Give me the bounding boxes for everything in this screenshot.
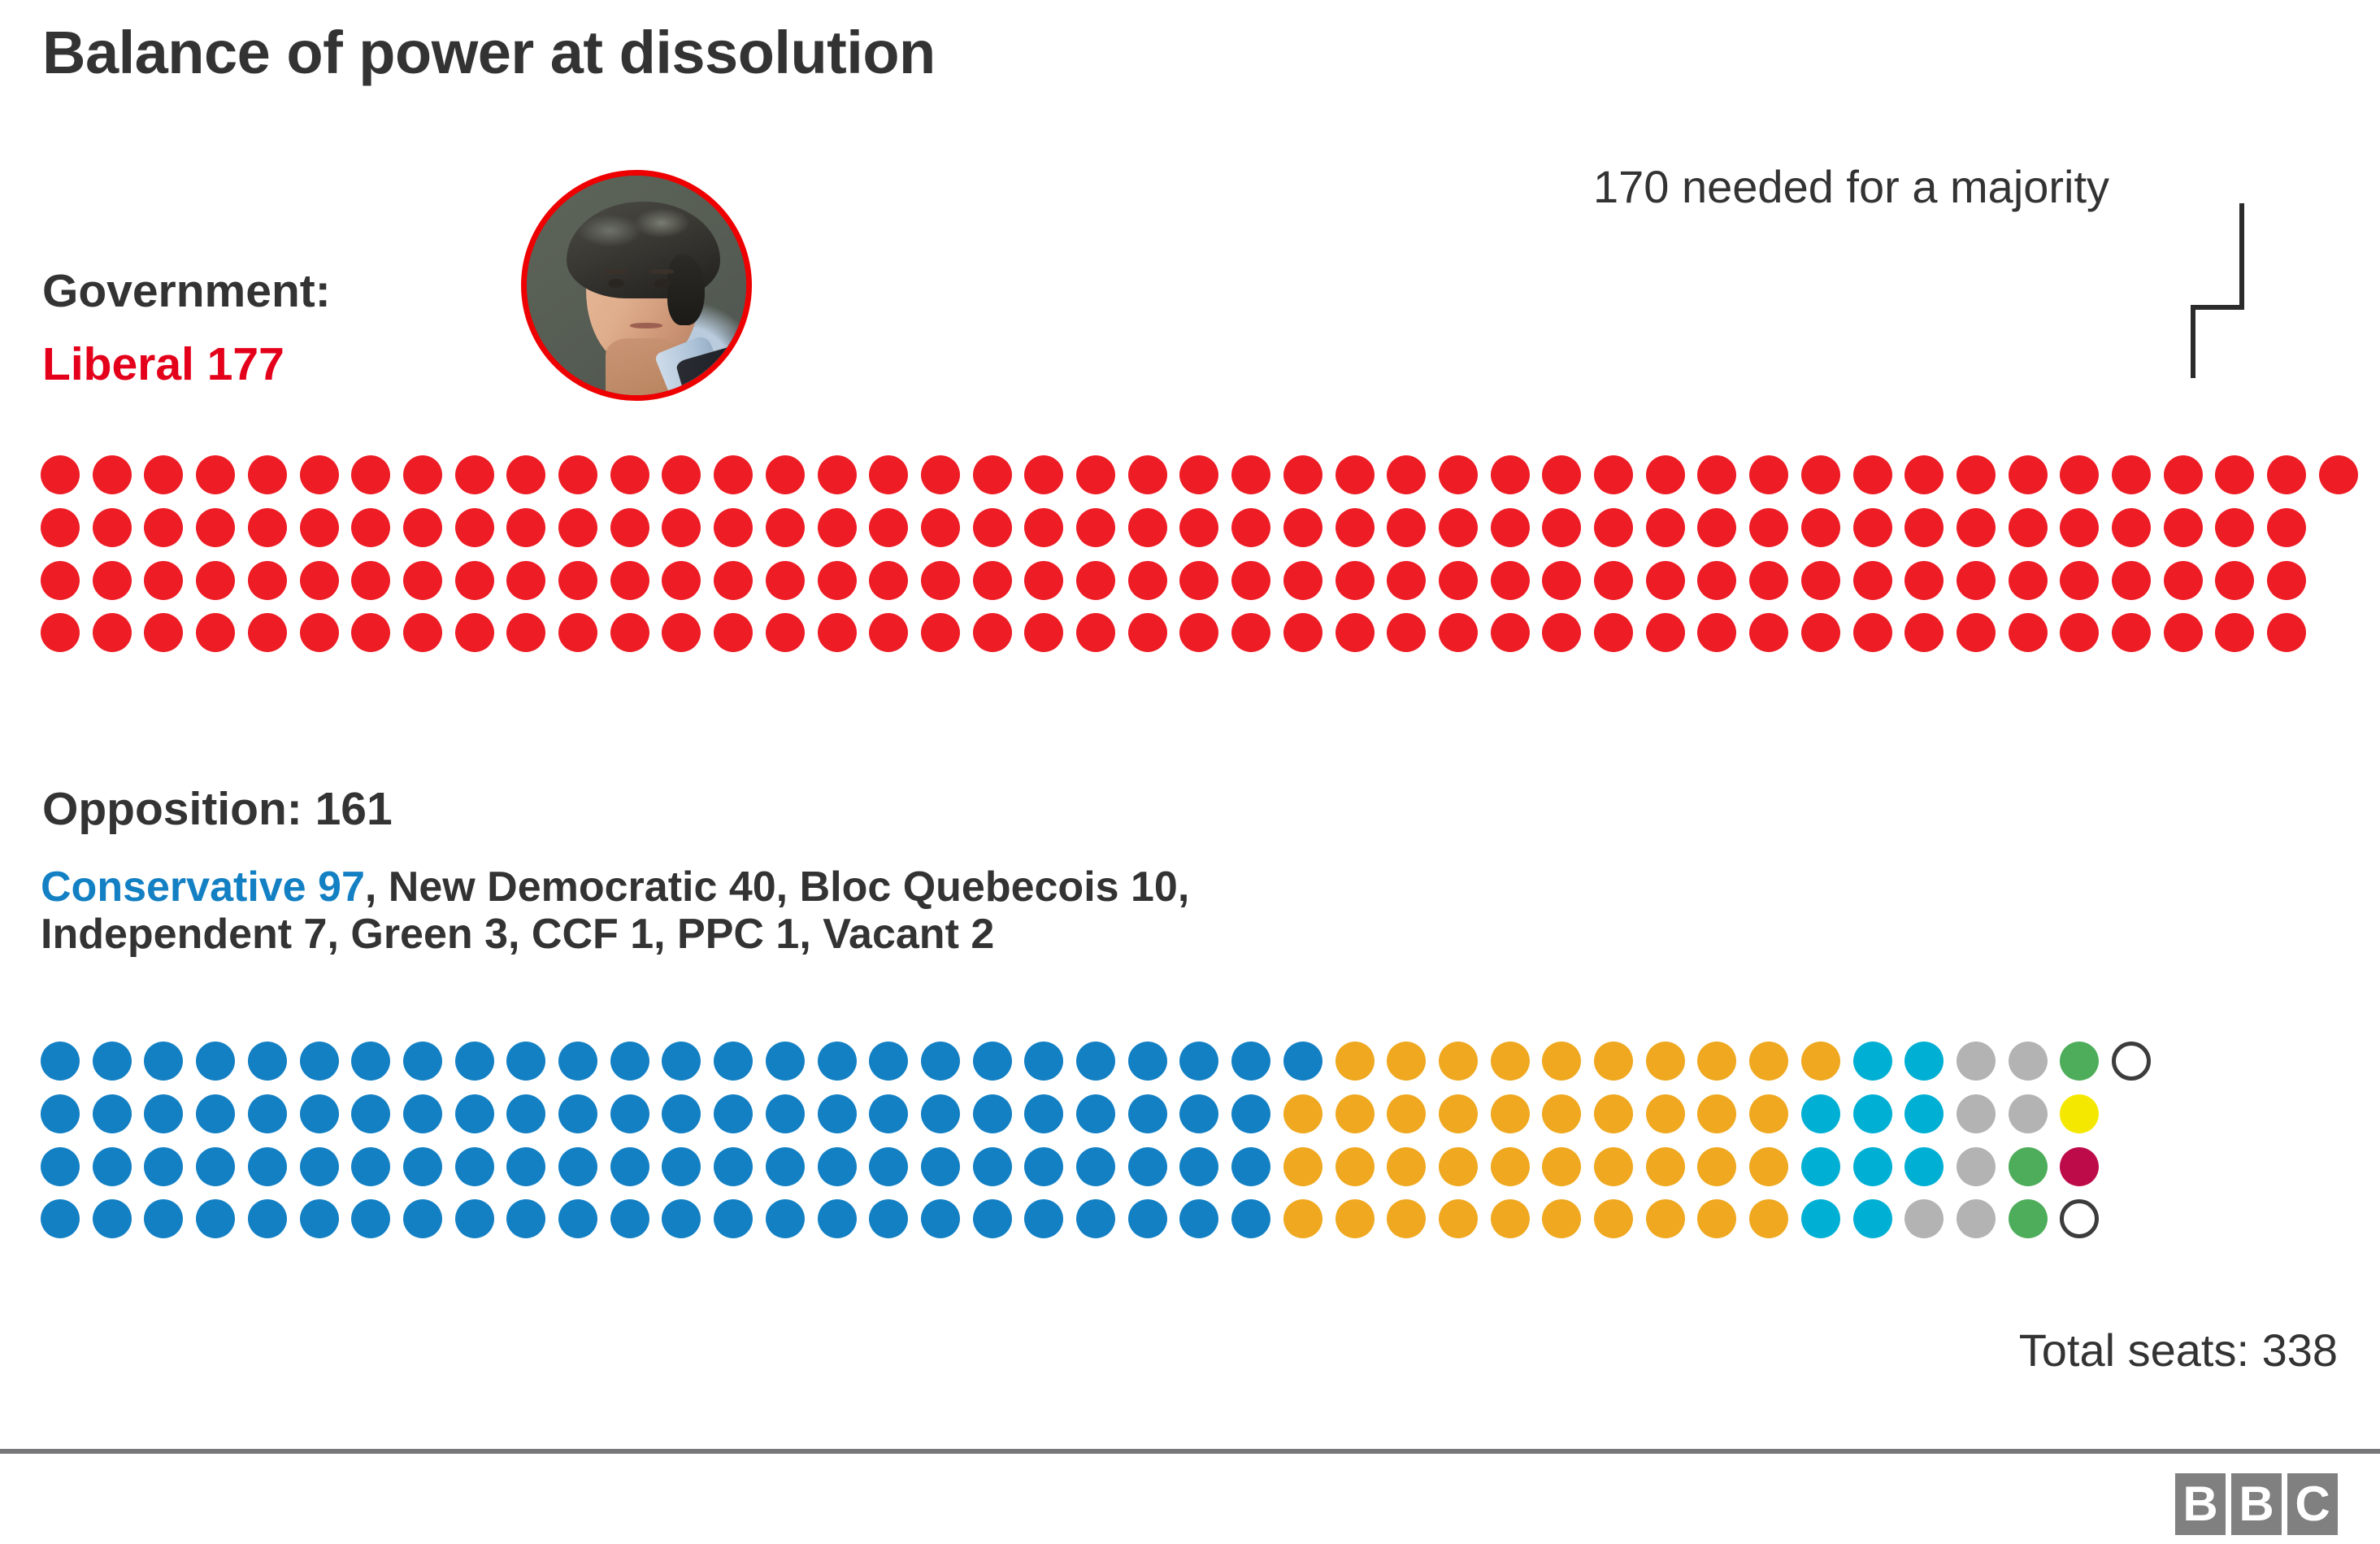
seat-dot-conservative — [403, 1199, 442, 1238]
seat-dot-conservative — [300, 1094, 339, 1133]
seat-dot-conservative — [248, 1042, 287, 1081]
seat-dot-new-democratic — [1439, 1094, 1478, 1133]
seat-dot-conservative — [766, 1094, 805, 1133]
seat-dot-new-democratic — [1439, 1042, 1478, 1081]
seat-dot-green — [2009, 1147, 2048, 1186]
seat-dot-new-democratic — [1335, 1094, 1375, 1133]
seat-dot-conservative — [1024, 1147, 1063, 1186]
seat-dot-conservative — [41, 1094, 80, 1133]
bbc-logo-letter-2: B — [2231, 1473, 2282, 1535]
seat-dot-conservative — [1231, 1042, 1270, 1081]
seat-dot-conservative — [1076, 1042, 1115, 1081]
seat-dot-conservative — [455, 1147, 494, 1186]
seat-dot-bloc-quebecois — [1801, 1094, 1840, 1133]
seat-dot-conservative — [93, 1199, 132, 1238]
seat-dot-new-democratic — [1697, 1094, 1736, 1133]
seat-dot-conservative — [41, 1147, 80, 1186]
seat-dot-conservative — [973, 1094, 1012, 1133]
seat-dot-conservative — [921, 1199, 960, 1238]
seat-dot-new-democratic — [1697, 1042, 1736, 1081]
seat-dot-conservative — [41, 1199, 80, 1238]
seat-dot-conservative — [662, 1094, 701, 1133]
seat-dot-conservative — [558, 1147, 597, 1186]
seat-dot-conservative — [93, 1042, 132, 1081]
seat-dot-new-democratic — [1646, 1042, 1685, 1081]
seat-dot-conservative — [818, 1147, 857, 1186]
seat-dot-conservative — [714, 1147, 753, 1186]
seat-dot-bloc-quebecois — [1853, 1042, 1892, 1081]
seat-dot-conservative — [1231, 1147, 1270, 1186]
seat-dot-conservative — [610, 1147, 649, 1186]
seat-dot-conservative — [300, 1147, 339, 1186]
seat-dot-new-democratic — [1594, 1042, 1633, 1081]
seat-dot-conservative — [818, 1199, 857, 1238]
total-seats-label: Total seats: 338 — [2019, 1324, 2338, 1377]
seat-dot-new-democratic — [1335, 1199, 1375, 1238]
seat-dot-new-democratic — [1801, 1042, 1840, 1081]
seat-dot-new-democratic — [1542, 1147, 1581, 1186]
seat-dot-independent — [1957, 1199, 1996, 1238]
seat-dot-conservative — [714, 1199, 753, 1238]
seat-dot-conservative — [558, 1042, 597, 1081]
seat-dot-conservative — [351, 1199, 390, 1238]
seat-dot-independent — [2009, 1042, 2048, 1081]
seat-dot-conservative — [41, 1042, 80, 1081]
seat-dot-conservative — [714, 1042, 753, 1081]
seat-dot-conservative — [610, 1042, 649, 1081]
seat-dot-conservative — [403, 1094, 442, 1133]
seat-dot-new-democratic — [1749, 1094, 1788, 1133]
seat-dot-new-democratic — [1387, 1042, 1426, 1081]
seat-dot-new-democratic — [1491, 1199, 1530, 1238]
seat-dot-conservative — [1231, 1094, 1270, 1133]
seat-dot-independent — [1957, 1094, 1996, 1133]
seat-dot-conservative — [1231, 1199, 1270, 1238]
seat-dot-conservative — [506, 1199, 545, 1238]
seat-dot-independent — [1957, 1042, 1996, 1081]
seat-dot-new-democratic — [1646, 1147, 1685, 1186]
seat-dot-new-democratic — [1697, 1147, 1736, 1186]
seat-dot-conservative — [1179, 1042, 1218, 1081]
seat-dot-conservative — [351, 1094, 390, 1133]
seat-dot-new-democratic — [1646, 1199, 1685, 1238]
seat-dot-new-democratic — [1283, 1147, 1322, 1186]
seat-dot-conservative — [455, 1042, 494, 1081]
seat-dot-new-democratic — [1542, 1094, 1581, 1133]
seat-dot-new-democratic — [1387, 1147, 1426, 1186]
seat-dot-new-democratic — [1283, 1199, 1322, 1238]
seat-dot-conservative — [196, 1199, 235, 1238]
seat-dot-conservative — [869, 1147, 908, 1186]
bbc-logo-letter-3: C — [2287, 1473, 2338, 1535]
seat-dot-conservative — [506, 1094, 545, 1133]
seat-dot-conservative — [93, 1094, 132, 1133]
seat-dot-conservative — [93, 1147, 132, 1186]
seat-dot-new-democratic — [1491, 1094, 1530, 1133]
seat-dot-new-democratic — [1697, 1199, 1736, 1238]
seat-dot-conservative — [1024, 1094, 1063, 1133]
seat-dot-conservative — [196, 1094, 235, 1133]
seat-dot-conservative — [196, 1042, 235, 1081]
seat-dot-conservative — [144, 1042, 183, 1081]
seat-dot-conservative — [1128, 1199, 1167, 1238]
seat-dot-new-democratic — [1542, 1042, 1581, 1081]
seat-dot-conservative — [300, 1042, 339, 1081]
seat-dot-conservative — [455, 1199, 494, 1238]
seat-dot-bloc-quebecois — [1904, 1147, 1944, 1186]
seat-dot-conservative — [662, 1042, 701, 1081]
seat-dot-conservative — [869, 1199, 908, 1238]
seat-dot-conservative — [1128, 1147, 1167, 1186]
seat-dot-conservative — [869, 1042, 908, 1081]
seat-dot-conservative — [766, 1042, 805, 1081]
seat-dot-conservative — [766, 1147, 805, 1186]
seat-dot-bloc-quebecois — [1904, 1042, 1944, 1081]
seat-dot-new-democratic — [1387, 1094, 1426, 1133]
opposition-seat-dot-grid — [0, 0, 2380, 1301]
seat-dot-conservative — [921, 1147, 960, 1186]
seat-dot-conservative — [818, 1042, 857, 1081]
seat-dot-conservative — [610, 1199, 649, 1238]
seat-dot-new-democratic — [1542, 1199, 1581, 1238]
seat-dot-new-democratic — [1646, 1094, 1685, 1133]
seat-dot-conservative — [351, 1147, 390, 1186]
seat-dot-independent — [1904, 1199, 1944, 1238]
seat-dot-conservative — [869, 1094, 908, 1133]
seat-dot-new-democratic — [1749, 1147, 1788, 1186]
seat-dot-conservative — [403, 1042, 442, 1081]
seat-dot-conservative — [248, 1147, 287, 1186]
seat-dot-conservative — [973, 1042, 1012, 1081]
seat-dot-bloc-quebecois — [1801, 1147, 1840, 1186]
seat-dot-new-democratic — [1283, 1094, 1322, 1133]
seat-dot-conservative — [714, 1094, 753, 1133]
seat-dot-new-democratic — [1594, 1199, 1633, 1238]
seat-dot-new-democratic — [1439, 1199, 1478, 1238]
seat-dot-conservative — [766, 1199, 805, 1238]
seat-dot-new-democratic — [1749, 1042, 1788, 1081]
seat-dot-conservative — [1024, 1199, 1063, 1238]
seat-dot-bloc-quebecois — [1853, 1094, 1892, 1133]
seat-dot-conservative — [506, 1147, 545, 1186]
seat-dot-conservative — [248, 1094, 287, 1133]
seat-dot-conservative — [1179, 1199, 1218, 1238]
seat-dot-conservative — [921, 1094, 960, 1133]
seat-dot-conservative — [1076, 1199, 1115, 1238]
seat-dot-conservative — [196, 1147, 235, 1186]
seat-dot-conservative — [973, 1147, 1012, 1186]
seat-dot-vacant — [2112, 1042, 2151, 1081]
seat-dot-conservative — [1024, 1042, 1063, 1081]
seat-dot-conservative — [558, 1094, 597, 1133]
seat-dot-conservative — [506, 1042, 545, 1081]
seat-dot-conservative — [1179, 1147, 1218, 1186]
seat-dot-new-democratic — [1491, 1147, 1530, 1186]
seat-dot-conservative — [144, 1147, 183, 1186]
seat-dot-conservative — [403, 1147, 442, 1186]
seat-dot-conservative — [1076, 1094, 1115, 1133]
footer-divider — [0, 1449, 2380, 1454]
seat-dot-ppc — [2060, 1147, 2099, 1186]
seat-dot-green — [2060, 1042, 2099, 1081]
seat-dot-conservative — [248, 1199, 287, 1238]
seat-dot-conservative — [1128, 1042, 1167, 1081]
seat-dot-bloc-quebecois — [1904, 1094, 1944, 1133]
bbc-logo-letter-1: B — [2175, 1473, 2226, 1535]
seat-dot-bloc-quebecois — [1853, 1147, 1892, 1186]
seat-dot-conservative — [662, 1199, 701, 1238]
seat-dot-vacant — [2060, 1199, 2099, 1238]
seat-dot-conservative — [300, 1199, 339, 1238]
seat-dot-ccf — [2060, 1094, 2099, 1133]
seat-dot-new-democratic — [1491, 1042, 1530, 1081]
seat-dot-green — [2009, 1199, 2048, 1238]
seat-dot-new-democratic — [1387, 1199, 1426, 1238]
seat-dot-conservative — [1283, 1042, 1322, 1081]
seat-dot-conservative — [144, 1199, 183, 1238]
bbc-logo: B B C — [2175, 1473, 2338, 1535]
seat-dot-new-democratic — [1594, 1094, 1633, 1133]
seat-dot-conservative — [662, 1147, 701, 1186]
seat-dot-conservative — [558, 1199, 597, 1238]
seat-dot-new-democratic — [1335, 1042, 1375, 1081]
seat-dot-conservative — [973, 1199, 1012, 1238]
seat-dot-new-democratic — [1594, 1147, 1633, 1186]
seat-dot-conservative — [818, 1094, 857, 1133]
seat-dot-conservative — [1076, 1147, 1115, 1186]
seat-dot-conservative — [144, 1094, 183, 1133]
seat-dot-conservative — [351, 1042, 390, 1081]
seat-dot-conservative — [610, 1094, 649, 1133]
seat-dot-conservative — [1179, 1094, 1218, 1133]
seat-dot-new-democratic — [1335, 1147, 1375, 1186]
seat-dot-new-democratic — [1749, 1199, 1788, 1238]
seat-dot-conservative — [455, 1094, 494, 1133]
seat-dot-new-democratic — [1439, 1147, 1478, 1186]
seat-dot-independent — [1957, 1147, 1996, 1186]
seat-dot-bloc-quebecois — [1853, 1199, 1892, 1238]
seat-dot-conservative — [1128, 1094, 1167, 1133]
seat-dot-independent — [2009, 1094, 2048, 1133]
seat-dot-bloc-quebecois — [1801, 1199, 1840, 1238]
seat-dot-conservative — [921, 1042, 960, 1081]
